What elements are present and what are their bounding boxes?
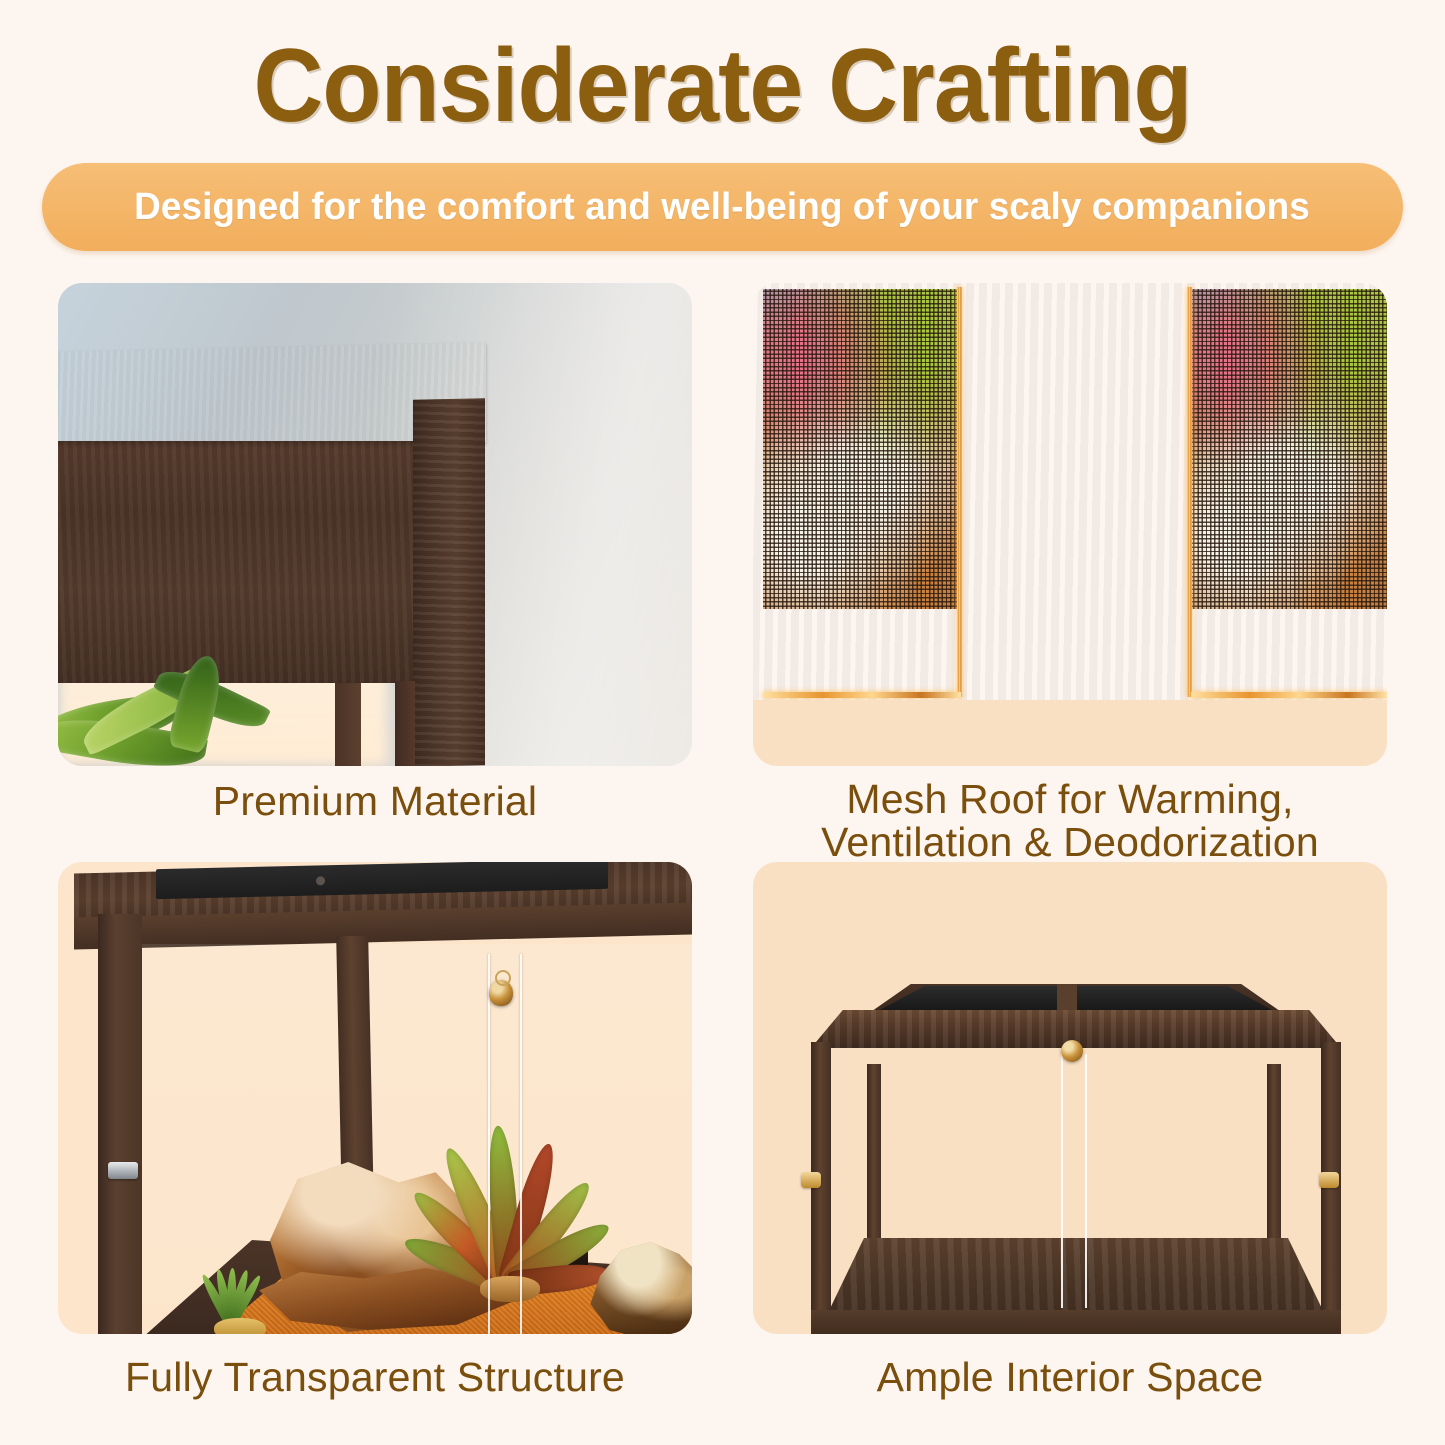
terrarium-enclosure bbox=[789, 980, 1351, 1334]
door-knob bbox=[489, 980, 513, 1006]
frame-light-edge bbox=[957, 287, 962, 697]
side-latch-left bbox=[801, 1172, 821, 1188]
succulent-plant bbox=[204, 1260, 256, 1334]
panel-premium-material bbox=[58, 283, 692, 766]
caption-ample-interior-space: Ample Interior Space bbox=[753, 1356, 1387, 1399]
caption-fully-transparent-structure: Fully Transparent Structure bbox=[40, 1356, 710, 1399]
panel-ample-interior-space bbox=[753, 862, 1387, 1334]
frame-light-edge bbox=[763, 692, 961, 698]
glass-door-edge bbox=[488, 954, 490, 1334]
wood-inner-leg-secondary bbox=[395, 681, 415, 766]
glass-door-edge bbox=[520, 954, 522, 1334]
caption-line-2: Ventilation & Deodorization bbox=[821, 819, 1319, 865]
panel-fully-transparent-structure bbox=[58, 862, 692, 1334]
door-hinge bbox=[108, 1162, 138, 1179]
terrarium-bottom-rail bbox=[811, 1310, 1341, 1334]
glass-door-edge bbox=[1085, 1054, 1087, 1308]
frame-light-edge bbox=[1187, 287, 1192, 697]
glass-door-edge bbox=[1061, 1054, 1063, 1308]
caption-line-1: Mesh Roof for Warming, bbox=[846, 776, 1293, 822]
caption-mesh-roof: Mesh Roof for Warming, Ventilation & Deo… bbox=[745, 778, 1395, 863]
frame-light-edge bbox=[1191, 692, 1387, 698]
side-latch-right bbox=[1319, 1172, 1339, 1188]
succulent-base bbox=[214, 1318, 266, 1334]
roof-center-beam bbox=[961, 283, 1193, 697]
foliage-plant bbox=[388, 1094, 638, 1284]
terrarium-left-post bbox=[98, 914, 142, 1334]
feature-panel-grid: Premium Material Mesh Roof for Warming, … bbox=[0, 0, 1445, 1445]
panel-mesh-roof bbox=[753, 283, 1387, 766]
wood-corner-post bbox=[413, 398, 485, 766]
wood-inner-leg bbox=[335, 683, 361, 766]
door-knob bbox=[1061, 1040, 1083, 1062]
mesh-screen-left bbox=[763, 289, 961, 609]
caption-premium-material: Premium Material bbox=[58, 780, 692, 823]
panel-footer-strip bbox=[753, 700, 1387, 766]
mesh-screen-right bbox=[1191, 289, 1387, 609]
